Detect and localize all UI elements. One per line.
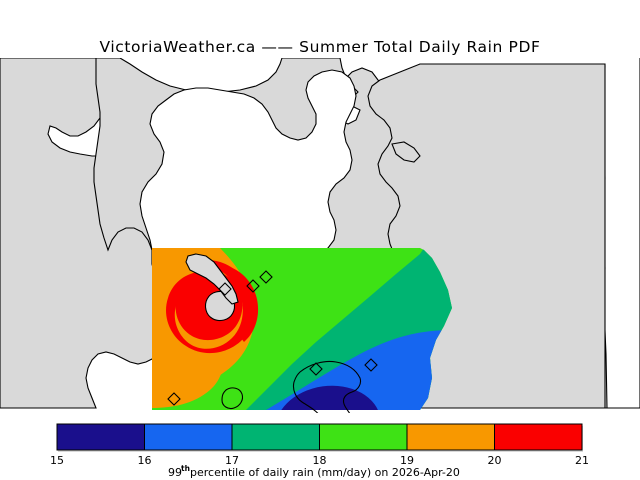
colorbar-caption-suffix: percentile of daily rain (mm/day) on 202…: [190, 466, 460, 479]
colorbar-caption: 99 th percentile of daily rain (mm/day) …: [168, 464, 460, 479]
colorbar-band-16-17[interactable]: [145, 424, 233, 450]
colorbar-caption-superscript: th: [181, 464, 190, 473]
colorbar-tick-label-1: 16: [138, 454, 152, 467]
colorbar-band-18-19[interactable]: [320, 424, 408, 450]
colorbar-band-15-16[interactable]: [57, 424, 145, 450]
weather-map-page: VictoriaWeather.ca —— Summer Total Daily…: [0, 0, 640, 480]
colorbar-panel: 15 16 17 18 19 20 21 99 th percentile of…: [0, 418, 640, 480]
colorbar-band-20-21[interactable]: [495, 424, 583, 450]
colorbar-tick-label-6: 21: [575, 454, 589, 467]
colorbar-caption-prefix: 99: [168, 466, 182, 479]
page-title: VictoriaWeather.ca —— Summer Total Daily…: [0, 38, 640, 56]
colorbar-band-17-18[interactable]: [232, 424, 320, 450]
colorbar-svg: 15 16 17 18 19 20 21 99 th percentile of…: [0, 418, 640, 480]
map-panel: [0, 58, 640, 413]
map-svg: [0, 58, 640, 413]
colorbar-bands: [57, 424, 582, 450]
colorbar-tick-label-0: 15: [50, 454, 64, 467]
colorbar-tick-label-5: 20: [488, 454, 502, 467]
colorbar-band-19-20[interactable]: [407, 424, 495, 450]
